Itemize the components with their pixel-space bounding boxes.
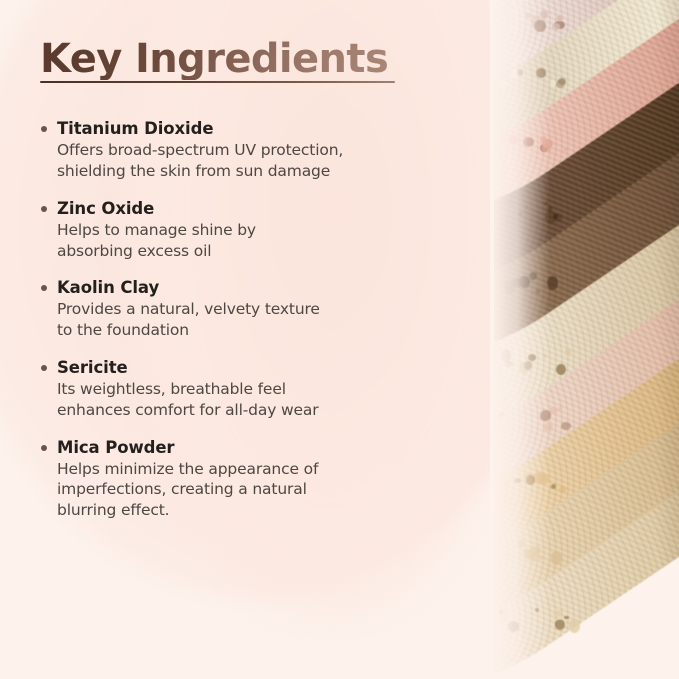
bullet-icon bbox=[41, 285, 47, 291]
powder-crumb bbox=[496, 418, 501, 423]
content-column: Key Ingredients Titanium DioxideOffers b… bbox=[0, 0, 470, 679]
ingredient-description: Helps minimize the appearance of imperfe… bbox=[57, 459, 450, 521]
powder-crumb bbox=[517, 69, 523, 76]
powder-crumb bbox=[543, 354, 547, 358]
ingredient-description: Provides a natural, velvety texture to t… bbox=[57, 299, 450, 341]
powder-crumb bbox=[501, 482, 509, 489]
powder-crumb bbox=[535, 474, 542, 482]
powder-crumb bbox=[508, 201, 511, 204]
powder-crumb bbox=[553, 610, 563, 617]
powder-swatch-streaks bbox=[494, 0, 679, 679]
powder-crumb bbox=[564, 616, 568, 620]
powder-crumb bbox=[558, 407, 562, 412]
powder-crumb bbox=[538, 555, 543, 559]
bullet-icon bbox=[41, 445, 47, 451]
list-item: SericiteIts weightless, breathable feel … bbox=[40, 357, 450, 421]
page-root: Key Ingredients Titanium DioxideOffers b… bbox=[0, 0, 679, 679]
powder-crumb bbox=[508, 621, 519, 631]
ingredient-description: Its weightless, breathable feel enhances… bbox=[57, 379, 450, 421]
powder-crumb bbox=[552, 23, 560, 29]
list-item: Mica PowderHelps minimize the appearance… bbox=[40, 437, 450, 521]
ingredient-description: Helps to manage shine by absorbing exces… bbox=[57, 220, 450, 262]
powder-crumb bbox=[569, 619, 580, 633]
page-title: Key Ingredients bbox=[40, 38, 388, 80]
powder-crumb bbox=[556, 80, 565, 88]
ingredient-name: Titanium Dioxide bbox=[57, 118, 450, 139]
powder-crumb bbox=[534, 20, 546, 33]
ingredient-list: Titanium DioxideOffers broad-spectrum UV… bbox=[40, 118, 450, 521]
powder-crumb bbox=[517, 539, 524, 547]
ingredient-name: Mica Powder bbox=[57, 437, 450, 458]
powder-crumb bbox=[526, 475, 535, 484]
powder-crumb bbox=[540, 410, 551, 421]
powder-crumb bbox=[509, 135, 517, 145]
list-item: Titanium DioxideOffers broad-spectrum UV… bbox=[40, 118, 450, 182]
ingredient-description: Offers broad-spectrum UV protection, shi… bbox=[57, 140, 450, 182]
powder-swatch-image bbox=[494, 0, 679, 679]
powder-crumb bbox=[528, 354, 536, 361]
powder-crumb bbox=[536, 68, 546, 77]
powder-crumb bbox=[559, 486, 566, 493]
powder-crumb bbox=[540, 10, 548, 18]
list-item: Kaolin ClayProvides a natural, velvety t… bbox=[40, 277, 450, 341]
powder-crumb bbox=[561, 422, 571, 430]
ingredient-name: Kaolin Clay bbox=[57, 277, 450, 298]
powder-crumb bbox=[494, 284, 499, 289]
powder-crumb bbox=[524, 361, 532, 370]
bullet-icon bbox=[41, 126, 47, 132]
list-item: Zinc OxideHelps to manage shine by absor… bbox=[40, 198, 450, 262]
bullet-icon bbox=[41, 365, 47, 371]
powder-crumb bbox=[556, 364, 566, 375]
powder-crumb bbox=[505, 214, 509, 218]
powder-crumb bbox=[547, 206, 553, 211]
powder-crumb bbox=[551, 551, 562, 565]
bullet-icon bbox=[41, 206, 47, 212]
powder-crumb bbox=[525, 13, 531, 18]
ingredient-name: Sericite bbox=[57, 357, 450, 378]
ingredient-name: Zinc Oxide bbox=[57, 198, 450, 219]
page-title-block: Key Ingredients bbox=[40, 38, 440, 83]
powder-crumb bbox=[550, 80, 556, 87]
powder-crumb bbox=[565, 348, 571, 356]
